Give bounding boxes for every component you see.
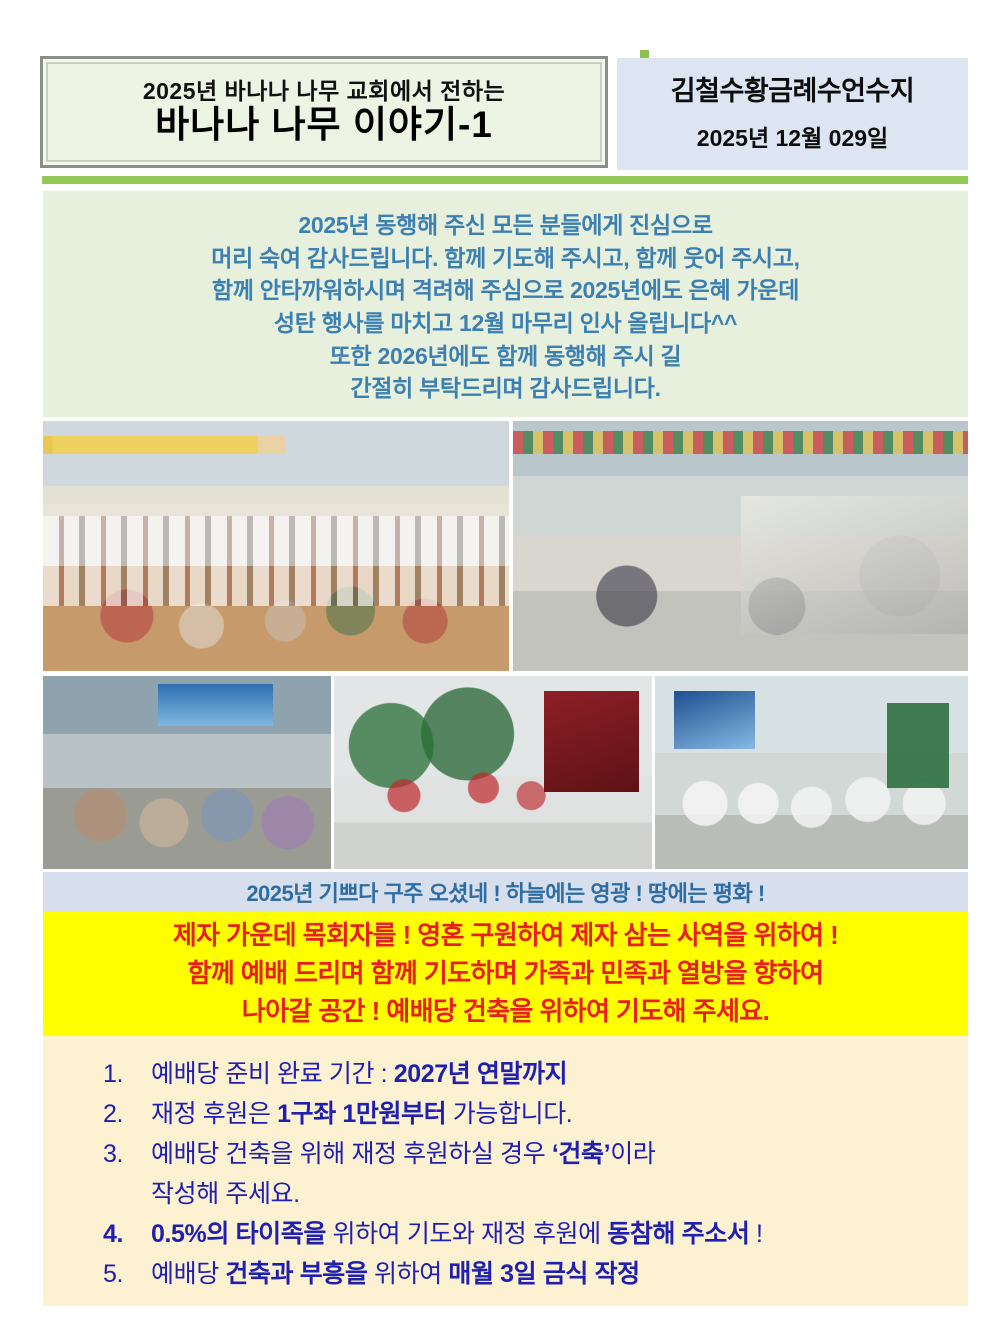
greeting-line: 성탄 행사를 마치고 12월 마무리 인사 올립니다^^ bbox=[274, 307, 737, 340]
photo-row-top bbox=[43, 421, 968, 671]
photo-christmas-tree-kids bbox=[334, 676, 652, 869]
prayer-list-item: 4.0.5%의 타이족을 위하여 기도와 재정 후원에 동참해 주소서 ! bbox=[103, 1214, 968, 1254]
photo-congregation bbox=[513, 421, 968, 671]
list-item-text: 건축과 부흥을 bbox=[225, 1260, 367, 1288]
list-item-number: 1. bbox=[103, 1054, 141, 1094]
photo-collage bbox=[43, 421, 968, 869]
greeting-block: 2025년 동행해 주신 모든 분들에게 진심으로 머리 숙여 감사드립니다. … bbox=[43, 191, 968, 417]
greeting-line: 또한 2026년에도 함께 동행해 주시 길 bbox=[330, 340, 682, 373]
list-item-text: ! bbox=[749, 1220, 762, 1248]
prayer-list-item: 2.재정 후원은 1구좌 1만원부터 가능합니다. bbox=[103, 1094, 968, 1134]
list-item-text: 동참해 주소서 bbox=[607, 1220, 749, 1248]
title-subtitle: 2025년 바나나 나무 교회에서 전하는 bbox=[143, 79, 505, 104]
photo-nativity-play bbox=[43, 676, 331, 869]
page-header: 2025년 바나나 나무 교회에서 전하는 바나나 나무 이야기-1 김철수황금… bbox=[0, 0, 1008, 180]
photo-children-choir bbox=[655, 676, 968, 869]
newsletter-page: 2025년 바나나 나무 교회에서 전하는 바나나 나무 이야기-1 김철수황금… bbox=[0, 0, 1008, 1344]
yellow-callout-line: 나아갈 공간 ! 예배당 건축을 위하여 기도해 주세요. bbox=[242, 993, 769, 1031]
list-item-text: 예배당 bbox=[151, 1260, 225, 1288]
prayer-list-item: 작성해 주세요. bbox=[103, 1174, 968, 1214]
list-item-number: 5. bbox=[103, 1254, 141, 1294]
header-divider bbox=[42, 176, 968, 184]
photo-row-bottom bbox=[43, 676, 968, 869]
list-item-text: 1구좌 1만원부터 bbox=[277, 1100, 446, 1128]
greeting-line: 함께 안타까워하시며 격려해 주심으로 2025년에도 은혜 가운데 bbox=[212, 274, 799, 307]
author-names: 김철수황금례수언수지 bbox=[671, 76, 914, 107]
list-item-number: 2. bbox=[103, 1094, 141, 1134]
photo-group-celebration bbox=[43, 421, 509, 671]
meta-box: 김철수황금례수언수지 2025년 12월 029일 bbox=[617, 58, 968, 170]
list-item-text: 위하여 bbox=[368, 1260, 449, 1288]
title-box: 2025년 바나나 나무 교회에서 전하는 바나나 나무 이야기-1 bbox=[40, 56, 608, 168]
prayer-list-item: 3.예배당 건축을 위해 재정 후원하실 경우 ‘건축’이라 bbox=[103, 1134, 968, 1174]
page-title: 바나나 나무 이야기-1 bbox=[155, 106, 493, 145]
prayer-list: 1.예배당 준비 완료 기간 : 2027년 연말까지2.재정 후원은 1구좌 … bbox=[43, 1054, 968, 1294]
yellow-callout: 제자 가운데 목회자를 ! 영혼 구원하여 제자 삼는 사역을 위하여 ! 함께… bbox=[43, 912, 968, 1036]
prayer-request-block: 1.예배당 준비 완료 기간 : 2027년 연말까지2.재정 후원은 1구좌 … bbox=[43, 1036, 968, 1306]
list-item-text: 이라 bbox=[610, 1140, 655, 1168]
yellow-callout-line: 제자 가운데 목회자를 ! 영혼 구원하여 제자 삼는 사역을 위하여 ! bbox=[173, 917, 838, 955]
list-item-text: 위하여 기도와 재정 후원에 bbox=[326, 1220, 607, 1248]
list-item-text: 재정 후원은 bbox=[151, 1100, 277, 1128]
prayer-list-item: 1.예배당 준비 완료 기간 : 2027년 연말까지 bbox=[103, 1054, 968, 1094]
list-item-text: 예배당 건축을 위해 재정 후원하실 경우 bbox=[151, 1140, 552, 1168]
list-item-text: 작성해 주세요. bbox=[151, 1180, 300, 1208]
greeting-line: 간절히 부탁드리며 감사드립니다. bbox=[350, 372, 660, 405]
blue-banner-text: 2025년 기쁘다 구주 오셨네 ! 하늘에는 영광 ! 땅에는 평화 ! bbox=[246, 876, 764, 908]
yellow-callout-line: 함께 예배 드리며 함께 기도하며 가족과 민족과 열방을 향하여 bbox=[188, 955, 824, 993]
list-item-text: 예배당 준비 완료 기간 : bbox=[151, 1060, 394, 1088]
list-item-number: 4. bbox=[103, 1214, 141, 1254]
greeting-line: 2025년 동행해 주신 모든 분들에게 진심으로 bbox=[298, 209, 712, 242]
list-item-text: 0.5%의 타이족을 bbox=[151, 1220, 326, 1248]
list-item-text: ‘건축’ bbox=[552, 1140, 610, 1168]
greeting-line: 머리 숙여 감사드립니다. 함께 기도해 주시고, 함께 웃어 주시고, bbox=[211, 242, 800, 275]
list-item-text: 매월 3일 금식 작정 bbox=[448, 1260, 639, 1288]
list-item-number: 3. bbox=[103, 1134, 141, 1174]
issue-date: 2025년 12월 029일 bbox=[697, 125, 888, 151]
prayer-list-item: 5.예배당 건축과 부흥을 위하여 매월 3일 금식 작정 bbox=[103, 1254, 968, 1294]
blue-banner: 2025년 기쁘다 구주 오셨네 ! 하늘에는 영광 ! 땅에는 평화 ! bbox=[43, 872, 968, 912]
list-item-text: 가능합니다. bbox=[446, 1100, 572, 1128]
list-item-text: 2027년 연말까지 bbox=[394, 1060, 568, 1088]
